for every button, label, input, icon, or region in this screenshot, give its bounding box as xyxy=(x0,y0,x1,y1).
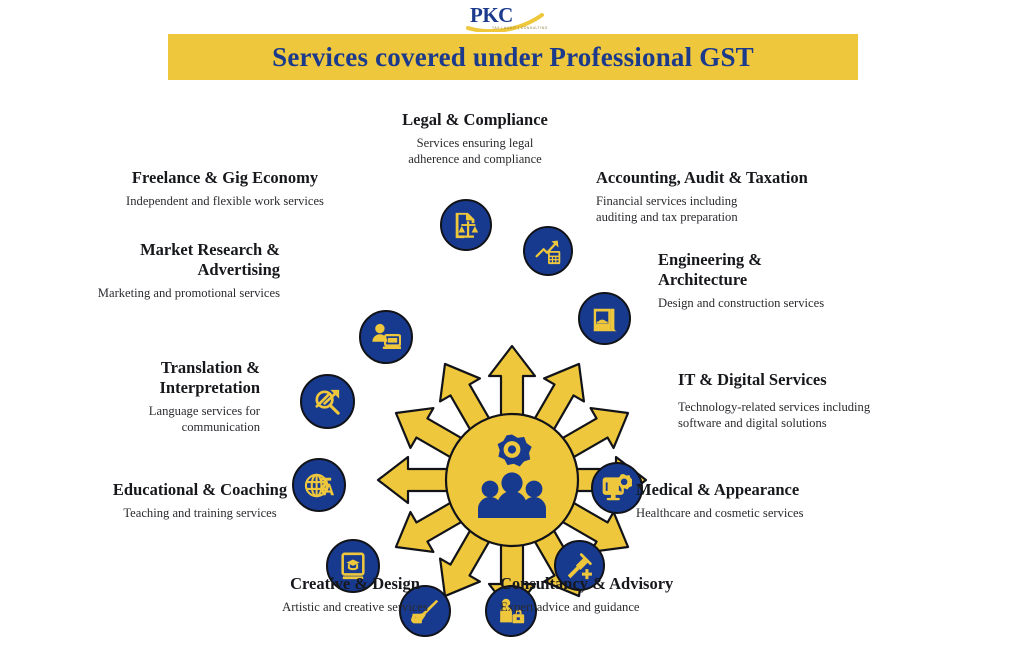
label-description: Marketing and promotional services xyxy=(93,285,280,302)
label-heading: Engineering & Architecture xyxy=(658,250,798,290)
label-description: Services ensuring legal adherence and co… xyxy=(393,135,558,168)
blueprint-helmet-icon xyxy=(590,304,620,334)
label-heading: Market Research & Advertising xyxy=(93,240,280,280)
label-medical-appearance: Medical & Appearance Healthcare and cosm… xyxy=(636,480,876,521)
label-engineering-architecture: Engineering & Architecture Design and co… xyxy=(658,250,888,311)
label-description: Financial services including auditing an… xyxy=(596,193,776,226)
document-scales-icon xyxy=(451,210,481,240)
page-title-bar: Services covered under Professional GST xyxy=(168,34,858,80)
label-heading: Consultancy & Advisory xyxy=(500,574,740,594)
label-consultancy-advisory: Consultancy & Advisory Expert advice and… xyxy=(500,574,740,615)
label-accounting-audit-taxation: Accounting, Audit & Taxation Financial s… xyxy=(596,168,876,226)
label-heading: Freelance & Gig Economy xyxy=(105,168,345,188)
radial-diagram: Legal & Compliance Services ensuring leg… xyxy=(0,88,1024,649)
label-heading: Creative & Design xyxy=(255,574,455,594)
label-heading: Accounting, Audit & Taxation xyxy=(596,168,876,188)
svg-text:TAX | AUDIT | CONSULTING: TAX | AUDIT | CONSULTING xyxy=(492,26,548,30)
svg-text:PKC: PKC xyxy=(470,3,513,27)
node-icon-accounting-audit-taxation[interactable] xyxy=(523,226,573,276)
label-heading: Legal & Compliance xyxy=(350,110,600,130)
label-educational-coaching: Educational & Coaching Teaching and trai… xyxy=(85,480,315,521)
label-description: Language services for communication xyxy=(108,403,260,436)
node-icon-legal-compliance[interactable] xyxy=(440,199,492,251)
node-icon-freelance-gig-economy[interactable] xyxy=(359,310,413,364)
page-title: Services covered under Professional GST xyxy=(272,42,754,73)
label-heading: Educational & Coaching xyxy=(85,480,315,500)
label-heading: IT & Digital Services xyxy=(678,370,918,390)
label-description: Artistic and creative services xyxy=(255,599,455,616)
label-description: Healthcare and cosmetic services xyxy=(636,505,876,522)
label-creative-design: Creative & Design Artistic and creative … xyxy=(255,574,455,615)
label-description: Independent and flexible work services xyxy=(105,193,345,210)
label-description: Design and construction services xyxy=(658,295,873,312)
label-description: Teaching and training services xyxy=(85,505,315,522)
label-heading: Medical & Appearance xyxy=(636,480,876,500)
magnifier-arrow-icon xyxy=(312,386,343,417)
person-laptop-icon xyxy=(371,322,401,352)
label-translation-interpretation: Translation & Interpretation Language se… xyxy=(108,358,260,436)
label-legal-compliance: Legal & Compliance Services ensuring leg… xyxy=(350,110,600,168)
chart-calculator-icon xyxy=(534,237,562,265)
node-icon-engineering-architecture[interactable] xyxy=(578,292,631,345)
label-description: Expert advice and guidance xyxy=(500,599,740,616)
label-market-research-advertising: Market Research & Advertising Marketing … xyxy=(93,240,280,301)
label-freelance-gig-economy: Freelance & Gig Economy Independent and … xyxy=(105,168,345,209)
pkc-logo: PKC TAX | AUDIT | CONSULTING xyxy=(462,2,548,32)
label-it-digital-services: IT & Digital Services Technology-related… xyxy=(678,370,918,432)
node-icon-market-research-advertising[interactable] xyxy=(300,374,355,429)
label-heading: Translation & Interpretation xyxy=(108,358,260,398)
monitor-gear-icon xyxy=(602,473,632,503)
label-description: Technology-related services including so… xyxy=(678,399,900,432)
